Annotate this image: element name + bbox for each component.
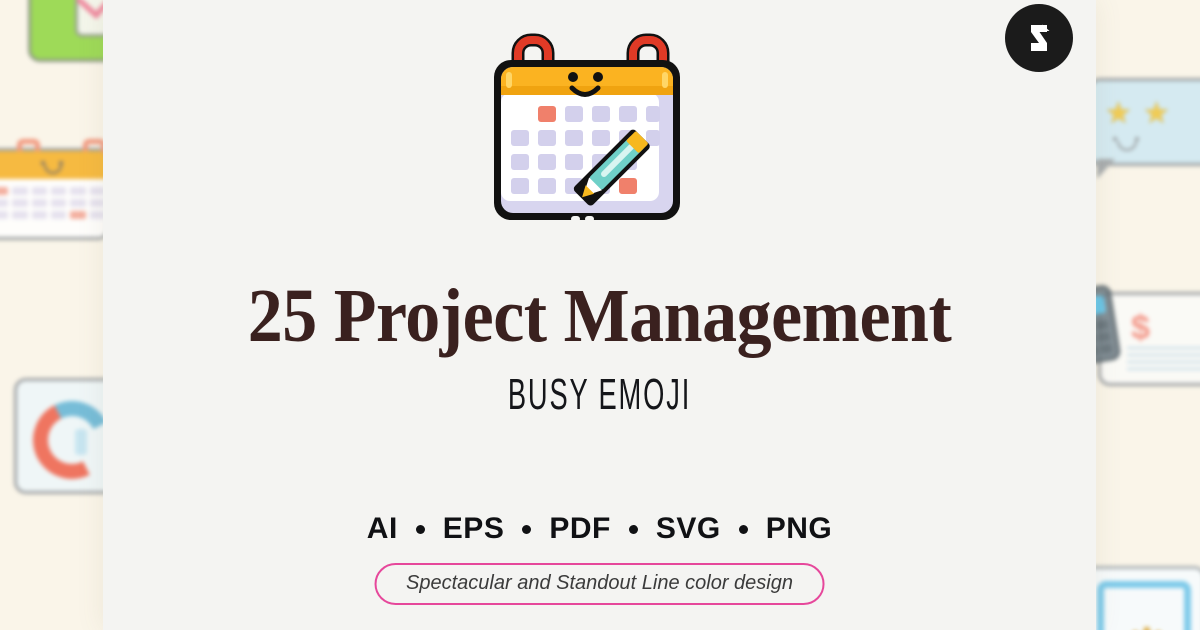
bullet-separator-icon (522, 525, 531, 534)
bullet-separator-icon (739, 525, 748, 534)
zcool-z-logo-icon (1022, 21, 1056, 55)
invoice-lines (1127, 347, 1200, 375)
hero-illustration (103, 30, 1096, 230)
star-icon-right: ★ (1143, 99, 1170, 129)
dollar-sign-icon: $ (1131, 309, 1150, 348)
format-item-eps: EPS (443, 512, 505, 546)
calendar-day-grid (0, 187, 105, 219)
donut-chart-icon (23, 391, 110, 489)
gear-frame-card: ⚙ (1090, 566, 1200, 630)
bubble-smile (1117, 141, 1137, 151)
right-background-strip: ★ ★ $ ⚙ (1090, 0, 1200, 630)
calendar-eye-left (568, 72, 578, 82)
orange-calendar-card (0, 148, 110, 240)
tagline-badge: Spectacular and Standout Line color desi… (374, 563, 825, 605)
calendar-eye-right (593, 72, 603, 82)
page-subtitle: BUSY EMOJI (292, 373, 908, 417)
format-item-png: PNG (766, 512, 833, 546)
header-highlight-right (662, 72, 668, 88)
calendar-with-pencil-illustration (485, 30, 715, 230)
star-speech-bubble-card: ★ ★ (1090, 78, 1200, 166)
pie-chart-card (14, 378, 110, 494)
format-list: AI EPS PDF SVG PNG (103, 512, 1096, 546)
star-icon-left: ★ (1105, 99, 1132, 129)
header-highlight-left (506, 72, 512, 88)
main-panel: 25 Project Management BUSY EMOJI AI EPS … (103, 0, 1096, 630)
format-item-ai: AI (367, 512, 398, 546)
bubble-tail (1097, 159, 1115, 179)
format-item-svg: SVG (656, 512, 721, 546)
bullet-separator-icon (416, 525, 425, 534)
bullet-separator-icon (629, 525, 638, 534)
format-item-pdf: PDF (549, 512, 611, 546)
brand-logo-badge[interactable] (1005, 4, 1073, 72)
gear-icon: ⚙ (1119, 621, 1181, 630)
poster-canvas: ★ ★ $ ⚙ (0, 0, 1200, 630)
calendar-bottom-notch-left (571, 216, 580, 222)
page-title: 25 Project Management (143, 278, 1057, 354)
left-background-strip (0, 0, 110, 630)
green-checklist-card (28, 0, 110, 62)
calendar-bottom-notch-right (585, 216, 594, 222)
chart-bar (75, 429, 87, 455)
